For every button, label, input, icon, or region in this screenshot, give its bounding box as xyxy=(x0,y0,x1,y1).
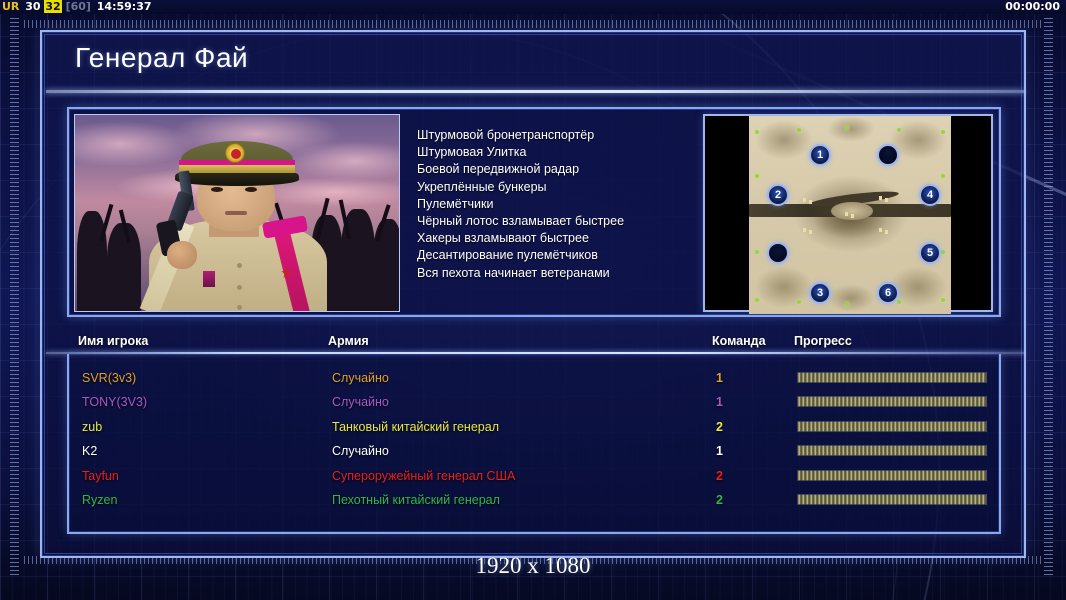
player-name: Ryzen xyxy=(82,488,117,512)
topbar-value-first: 30 xyxy=(23,0,40,13)
topbar-max: [60] xyxy=(66,0,91,13)
title-row: Генерал Фай xyxy=(42,32,1024,90)
player-table-header: Имя игрока Армия Команда Прогресс xyxy=(42,334,1024,354)
table-row[interactable]: K2Случайно1 xyxy=(69,439,999,463)
resolution-label: 1920 x 1080 xyxy=(0,553,1066,579)
player-army: Случайно xyxy=(332,366,389,390)
ability-item: Боевой передвижной радар xyxy=(417,161,717,178)
content-box: Штурмовой бронетранспортёр Штурмовая Ули… xyxy=(67,107,1001,317)
player-army: Случайно xyxy=(332,439,389,463)
player-progress-bar xyxy=(797,494,987,505)
player-team: 1 xyxy=(716,439,723,463)
column-header-army: Армия xyxy=(328,334,369,348)
player-team: 1 xyxy=(716,390,723,414)
minimap-start-position: 5 xyxy=(919,242,941,264)
player-army: Танковый китайский генерал xyxy=(332,415,499,439)
column-header-name: Имя игрока xyxy=(78,334,148,348)
player-army: Супероружейный генерал США xyxy=(332,464,515,488)
minimap-frame: 124536 xyxy=(703,114,993,312)
player-name: SVR(3v3) xyxy=(82,366,136,390)
player-progress-bar xyxy=(797,470,987,481)
ability-item: Чёрный лотос взламывает быстрее xyxy=(417,213,717,230)
player-table: SVR(3v3)Случайно1TONY(3V3)Случайно1zubТа… xyxy=(67,354,1001,534)
minimap-start-position: 1 xyxy=(809,144,831,166)
column-header-progress: Прогресс xyxy=(794,334,852,348)
top-status-bar: UR 30 32 [60] 14:59:37 00:00:00 xyxy=(0,0,1066,14)
player-progress-bar xyxy=(797,445,987,456)
player-progress-bar xyxy=(797,372,987,383)
topbar-clock: 14:59:37 xyxy=(95,0,152,13)
topbar-value-second: 32 xyxy=(44,0,61,13)
topbar-elapsed: 00:00:00 xyxy=(1005,0,1060,14)
player-army: Пехотный китайский генерал xyxy=(332,488,500,512)
player-team: 2 xyxy=(716,488,723,512)
ability-item: Хакеры взламывают быстрее xyxy=(417,230,717,247)
loading-screen: UR 30 32 [60] 14:59:37 00:00:00 Генерал … xyxy=(0,0,1066,600)
player-name: Tayfun xyxy=(82,464,119,488)
minimap-start-position-empty xyxy=(877,144,899,166)
ability-item: Укреплённые бункеры xyxy=(417,179,717,196)
player-name: zub xyxy=(82,415,102,439)
topbar-label: UR xyxy=(0,0,19,13)
player-team: 2 xyxy=(716,415,723,439)
ruler-left xyxy=(10,18,19,578)
minimap: 124536 xyxy=(749,116,951,314)
player-progress-bar xyxy=(797,421,987,432)
minimap-start-position: 6 xyxy=(877,282,899,304)
table-row[interactable]: SVR(3v3)Случайно1 xyxy=(69,366,999,390)
ability-item: Штурмовой бронетранспортёр xyxy=(417,127,717,144)
ability-item: Десантирование пулемётчиков xyxy=(417,247,717,264)
player-name: TONY(3V3) xyxy=(82,390,147,414)
column-header-team: Команда xyxy=(712,334,766,348)
minimap-start-position: 4 xyxy=(919,184,941,206)
player-army: Случайно xyxy=(332,390,389,414)
page-title: Генерал Фай xyxy=(75,42,248,74)
ability-item: Пулемётчики xyxy=(417,196,717,213)
main-panel: Генерал Фай xyxy=(40,30,1026,558)
player-team: 1 xyxy=(716,366,723,390)
player-team: 2 xyxy=(716,464,723,488)
ruler-top xyxy=(24,20,1044,28)
minimap-start-position: 2 xyxy=(767,184,789,206)
minimap-start-position: 3 xyxy=(809,282,831,304)
general-portrait xyxy=(74,114,400,312)
player-progress-bar xyxy=(797,396,987,407)
table-row[interactable]: TONY(3V3)Случайно1 xyxy=(69,390,999,414)
minimap-start-position-empty xyxy=(767,242,789,264)
table-row[interactable]: TayfunСупероружейный генерал США2 xyxy=(69,464,999,488)
player-name: K2 xyxy=(82,439,97,463)
ability-item: Штурмовая Улитка xyxy=(417,144,717,161)
ruler-right xyxy=(1044,18,1053,578)
general-ability-list: Штурмовой бронетранспортёр Штурмовая Ули… xyxy=(417,127,717,282)
table-row[interactable]: zubТанковый китайский генерал2 xyxy=(69,415,999,439)
ability-item: Вся пехота начинает ветеранами xyxy=(417,265,717,282)
table-row[interactable]: RyzenПехотный китайский генерал2 xyxy=(69,488,999,512)
title-divider xyxy=(46,90,1024,93)
